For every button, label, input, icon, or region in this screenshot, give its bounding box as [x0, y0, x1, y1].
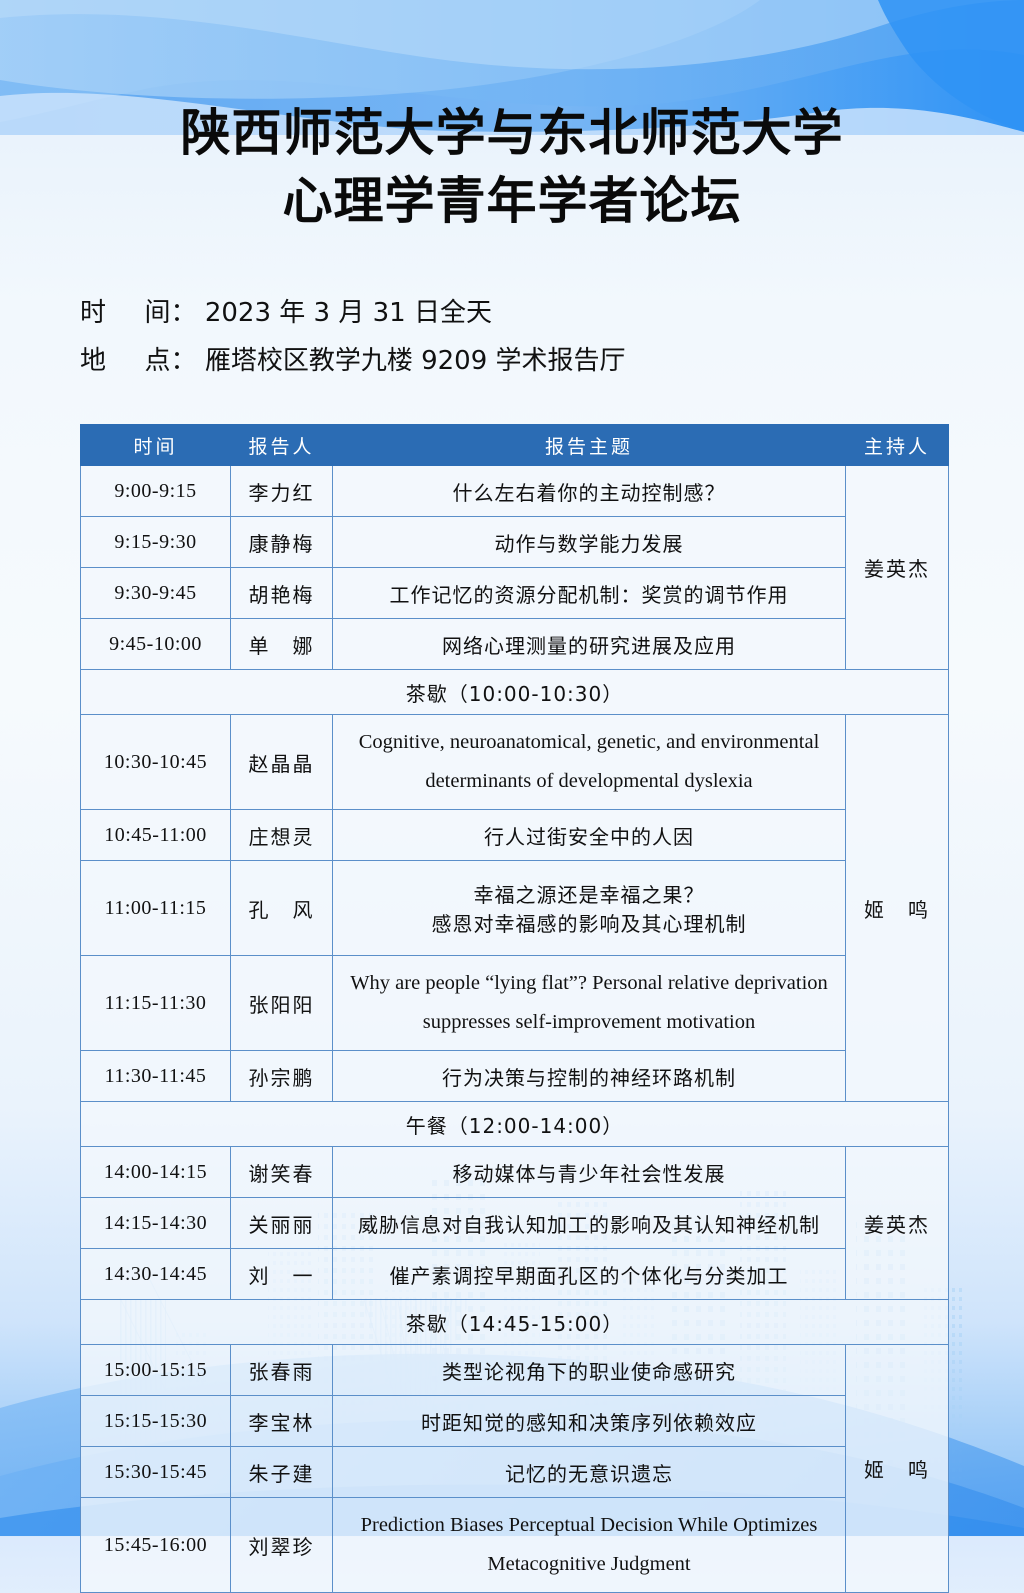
- break-row: 茶歇（10:00-10:30）: [81, 670, 949, 715]
- cell-time: 15:30-15:45: [81, 1447, 231, 1498]
- cell-speaker: 康静梅: [231, 517, 333, 568]
- table-row: 9:45-10:00单 娜网络心理测量的研究进展及应用: [81, 619, 949, 670]
- break-label: 茶歇（10:00-10:30）: [81, 670, 949, 715]
- table-row: 10:45-11:00庄想灵行人过街安全中的人因: [81, 810, 949, 861]
- topic-line: 催产素调控早期面孔区的个体化与分类加工: [343, 1260, 835, 1289]
- table-row: 14:15-14:30关丽丽威胁信息对自我认知加工的影响及其认知神经机制: [81, 1198, 949, 1249]
- schedule-table-head: 时间 报告人 报告主题 主持人: [81, 425, 949, 466]
- table-row: 15:00-15:15张春雨类型论视角下的职业使命感研究姬 鸣: [81, 1345, 949, 1396]
- topic-line: 行人过街安全中的人因: [343, 821, 835, 850]
- meta-row-place: 地 点： 雁塔校区教学九楼 9209 学术报告厅: [80, 348, 960, 374]
- table-row: 11:00-11:15孔 风幸福之源还是幸福之果？感恩对幸福感的影响及其心理机制: [81, 861, 949, 956]
- cell-topic: 什么左右着你的主动控制感？: [333, 466, 846, 517]
- meta-place-label2: 点：: [145, 348, 197, 374]
- break-row: 午餐（12:00-14:00）: [81, 1102, 949, 1147]
- cell-host: 姜英杰: [846, 466, 949, 670]
- cell-speaker: 胡艳梅: [231, 568, 333, 619]
- cell-speaker: 朱子建: [231, 1447, 333, 1498]
- table-row: 11:30-11:45孙宗鹏行为决策与控制的神经环路机制: [81, 1051, 949, 1102]
- cell-speaker: 刘翠珍: [231, 1498, 333, 1593]
- cell-speaker: 李宝林: [231, 1396, 333, 1447]
- topic-line: 类型论视角下的职业使命感研究: [343, 1356, 835, 1385]
- meta-time-label: 时: [80, 300, 106, 326]
- cell-speaker: 关丽丽: [231, 1198, 333, 1249]
- cell-speaker: 刘 一: [231, 1249, 333, 1300]
- schedule-table-body: 9:00-9:15李力红什么左右着你的主动控制感？姜英杰9:15-9:30康静梅…: [81, 466, 949, 1593]
- topic-line: 记忆的无意识遗忘: [343, 1458, 835, 1487]
- break-row: 茶歇（14:45-15:00）: [81, 1300, 949, 1345]
- cell-host: 姜英杰: [846, 1147, 949, 1300]
- col-header-time: 时间: [81, 425, 231, 466]
- cell-speaker: 赵晶晶: [231, 715, 333, 810]
- cell-topic: 网络心理测量的研究进展及应用: [333, 619, 846, 670]
- cell-time: 9:30-9:45: [81, 568, 231, 619]
- cell-time: 11:15-11:30: [81, 956, 231, 1051]
- meta-place-label: 地: [80, 348, 106, 374]
- cell-time: 15:15-15:30: [81, 1396, 231, 1447]
- break-label: 午餐（12:00-14:00）: [81, 1102, 949, 1147]
- table-header-row: 时间 报告人 报告主题 主持人: [81, 425, 949, 466]
- topic-line: Why are people “lying flat”? Personal re…: [343, 964, 835, 1003]
- meta-place-value: 雁塔校区教学九楼 9209 学术报告厅: [205, 346, 626, 376]
- cell-speaker: 李力红: [231, 466, 333, 517]
- title-line-1: 陕西师范大学与东北师范大学: [0, 100, 1024, 168]
- cell-topic: 催产素调控早期面孔区的个体化与分类加工: [333, 1249, 846, 1300]
- cell-topic: 动作与数学能力发展: [333, 517, 846, 568]
- table-row: 9:30-9:45胡艳梅工作记忆的资源分配机制：奖赏的调节作用: [81, 568, 949, 619]
- topic-line: suppresses self-improvement motivation: [343, 1003, 835, 1042]
- topic-line: 感恩对幸福感的影响及其心理机制: [343, 908, 835, 937]
- title-line-2: 心理学青年学者论坛: [0, 168, 1024, 236]
- topic-line: Cognitive, neuroanatomical, genetic, and…: [343, 723, 835, 762]
- table-row: 15:30-15:45朱子建记忆的无意识遗忘: [81, 1447, 949, 1498]
- topic-line: Prediction Biases Perceptual Decision Wh…: [343, 1506, 835, 1545]
- cell-speaker: 孔 风: [231, 861, 333, 956]
- meta-time-value: 2023 年 3 月 31 日全天: [205, 298, 492, 328]
- meta-time-label2: 间：: [145, 300, 197, 326]
- cell-time: 14:00-14:15: [81, 1147, 231, 1198]
- cell-topic: 行人过街安全中的人因: [333, 810, 846, 861]
- topic-line: Metacognitive Judgment: [343, 1545, 835, 1584]
- topic-line: 动作与数学能力发展: [343, 528, 835, 557]
- cell-time: 10:45-11:00: [81, 810, 231, 861]
- cell-time: 9:00-9:15: [81, 466, 231, 517]
- topic-line: 网络心理测量的研究进展及应用: [343, 630, 835, 659]
- topic-line: 威胁信息对自我认知加工的影响及其认知神经机制: [343, 1209, 835, 1238]
- cell-speaker: 张春雨: [231, 1345, 333, 1396]
- cell-topic: 时距知觉的感知和决策序列依赖效应: [333, 1396, 846, 1447]
- cell-time: 9:45-10:00: [81, 619, 231, 670]
- break-label: 茶歇（14:45-15:00）: [81, 1300, 949, 1345]
- cell-speaker: 孙宗鹏: [231, 1051, 333, 1102]
- cell-topic: Prediction Biases Perceptual Decision Wh…: [333, 1498, 846, 1593]
- col-header-topic: 报告主题: [333, 425, 846, 466]
- cell-time: 15:45-16:00: [81, 1498, 231, 1593]
- topic-line: 行为决策与控制的神经环路机制: [343, 1062, 835, 1091]
- cell-topic: 威胁信息对自我认知加工的影响及其认知神经机制: [333, 1198, 846, 1249]
- table-row: 14:30-14:45刘 一催产素调控早期面孔区的个体化与分类加工: [81, 1249, 949, 1300]
- col-header-speaker: 报告人: [231, 425, 333, 466]
- col-header-host: 主持人: [846, 425, 949, 466]
- cell-host: 姬 鸣: [846, 1345, 949, 1593]
- cell-topic: 工作记忆的资源分配机制：奖赏的调节作用: [333, 568, 846, 619]
- poster-title: 陕西师范大学与东北师范大学 心理学青年学者论坛: [0, 100, 1024, 235]
- cell-host: 姬 鸣: [846, 715, 949, 1102]
- table-row: 15:45-16:00刘翠珍Prediction Biases Perceptu…: [81, 1498, 949, 1593]
- table-row: 9:00-9:15李力红什么左右着你的主动控制感？姜英杰: [81, 466, 949, 517]
- cell-time: 14:15-14:30: [81, 1198, 231, 1249]
- topic-line: 幸福之源还是幸福之果？: [343, 879, 835, 908]
- schedule-table: 时间 报告人 报告主题 主持人 9:00-9:15李力红什么左右着你的主动控制感…: [80, 424, 949, 1593]
- topic-line: 移动媒体与青少年社会性发展: [343, 1158, 835, 1187]
- cell-topic: 类型论视角下的职业使命感研究: [333, 1345, 846, 1396]
- cell-time: 10:30-10:45: [81, 715, 231, 810]
- table-row: 11:15-11:30张阳阳Why are people “lying flat…: [81, 956, 949, 1051]
- topic-line: 什么左右着你的主动控制感？: [343, 477, 835, 506]
- cell-speaker: 张阳阳: [231, 956, 333, 1051]
- table-row: 14:00-14:15谢笑春移动媒体与青少年社会性发展姜英杰: [81, 1147, 949, 1198]
- cell-topic: 行为决策与控制的神经环路机制: [333, 1051, 846, 1102]
- cell-time: 11:00-11:15: [81, 861, 231, 956]
- meta-row-time: 时 间： 2023 年 3 月 31 日全天: [80, 300, 960, 326]
- cell-speaker: 谢笑春: [231, 1147, 333, 1198]
- cell-speaker: 单 娜: [231, 619, 333, 670]
- cell-topic: 记忆的无意识遗忘: [333, 1447, 846, 1498]
- cell-topic: 幸福之源还是幸福之果？感恩对幸福感的影响及其心理机制: [333, 861, 846, 956]
- cell-time: 15:00-15:15: [81, 1345, 231, 1396]
- poster-meta: 时 间： 2023 年 3 月 31 日全天 地 点： 雁塔校区教学九楼 920…: [80, 300, 960, 396]
- table-row: 15:15-15:30李宝林时距知觉的感知和决策序列依赖效应: [81, 1396, 949, 1447]
- topic-line: 工作记忆的资源分配机制：奖赏的调节作用: [343, 579, 835, 608]
- cell-topic: 移动媒体与青少年社会性发展: [333, 1147, 846, 1198]
- topic-line: 时距知觉的感知和决策序列依赖效应: [343, 1407, 835, 1436]
- cell-time: 11:30-11:45: [81, 1051, 231, 1102]
- cell-topic: Cognitive, neuroanatomical, genetic, and…: [333, 715, 846, 810]
- table-row: 9:15-9:30康静梅动作与数学能力发展: [81, 517, 949, 568]
- cell-speaker: 庄想灵: [231, 810, 333, 861]
- cell-time: 14:30-14:45: [81, 1249, 231, 1300]
- topic-line: determinants of developmental dyslexia: [343, 762, 835, 801]
- cell-topic: Why are people “lying flat”? Personal re…: [333, 956, 846, 1051]
- cell-time: 9:15-9:30: [81, 517, 231, 568]
- table-row: 10:30-10:45赵晶晶Cognitive, neuroanatomical…: [81, 715, 949, 810]
